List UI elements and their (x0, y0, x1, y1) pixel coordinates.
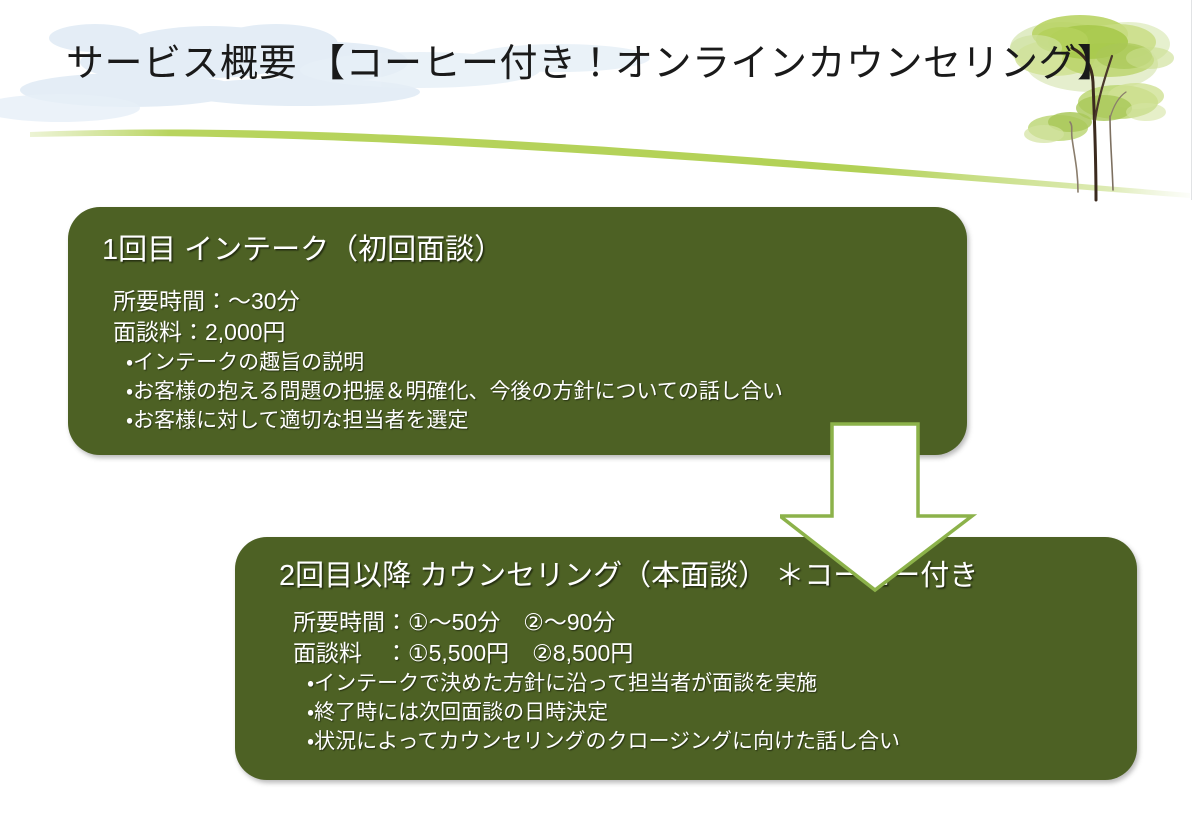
step-box-counseling: 2回目以降 カウンセリング（本面談） ＊コーヒー付き 所要時間：①〜50分 ②〜… (235, 537, 1137, 780)
bullet-item: お客様に対して適切な担当者を選定 (126, 406, 783, 435)
bullet-item: インテークで決めた方針に沿って担当者が面談を実施 (307, 669, 900, 698)
bullet-item: インテークの趣旨の説明 (126, 348, 783, 377)
bullet-item: 状況によってカウンセリングのクロージングに向けた話し合い (307, 727, 900, 756)
step-bullet-list: インテークで決めた方針に沿って担当者が面談を実施 終了時には次回面談の日時決定 … (307, 669, 900, 756)
cloud-decoration (0, 0, 1200, 200)
tree-icon (1000, 0, 1200, 210)
step-detail-lines: 所要時間：〜30分 面談料：2,000円 (113, 286, 300, 348)
swoosh-line (0, 90, 1200, 210)
step-bullet-list: インテークの趣旨の説明 お客様の抱える問題の把握＆明確化、今後の方針についての話… (126, 348, 783, 435)
detail-line: 所要時間：〜30分 (113, 286, 300, 317)
right-edge-line (1191, 0, 1192, 200)
bullet-item: 終了時には次回面談の日時決定 (307, 698, 900, 727)
detail-line: 面談料 ：①5,500円 ②8,500円 (293, 638, 633, 669)
slide-canvas: サービス概要 【コーヒー付き！オンラインカウンセリング】 1回目 インテーク（初… (0, 0, 1200, 827)
step-heading: 1回目 インテーク（初回面談） (102, 233, 503, 267)
step-detail-lines: 所要時間：①〜50分 ②〜90分 面談料 ：①5,500円 ②8,500円 (293, 607, 633, 669)
detail-line: 所要時間：①〜50分 ②〜90分 (293, 607, 633, 638)
down-arrow-icon (780, 420, 1000, 595)
bullet-item: お客様の抱える問題の把握＆明確化、今後の方針についての話し合い (126, 377, 783, 406)
detail-line: 面談料：2,000円 (113, 317, 300, 348)
page-title: サービス概要 【コーヒー付き！オンラインカウンセリング】 (66, 38, 1116, 90)
step-box-intake: 1回目 インテーク（初回面談） 所要時間：〜30分 面談料：2,000円 インテ… (68, 207, 967, 455)
